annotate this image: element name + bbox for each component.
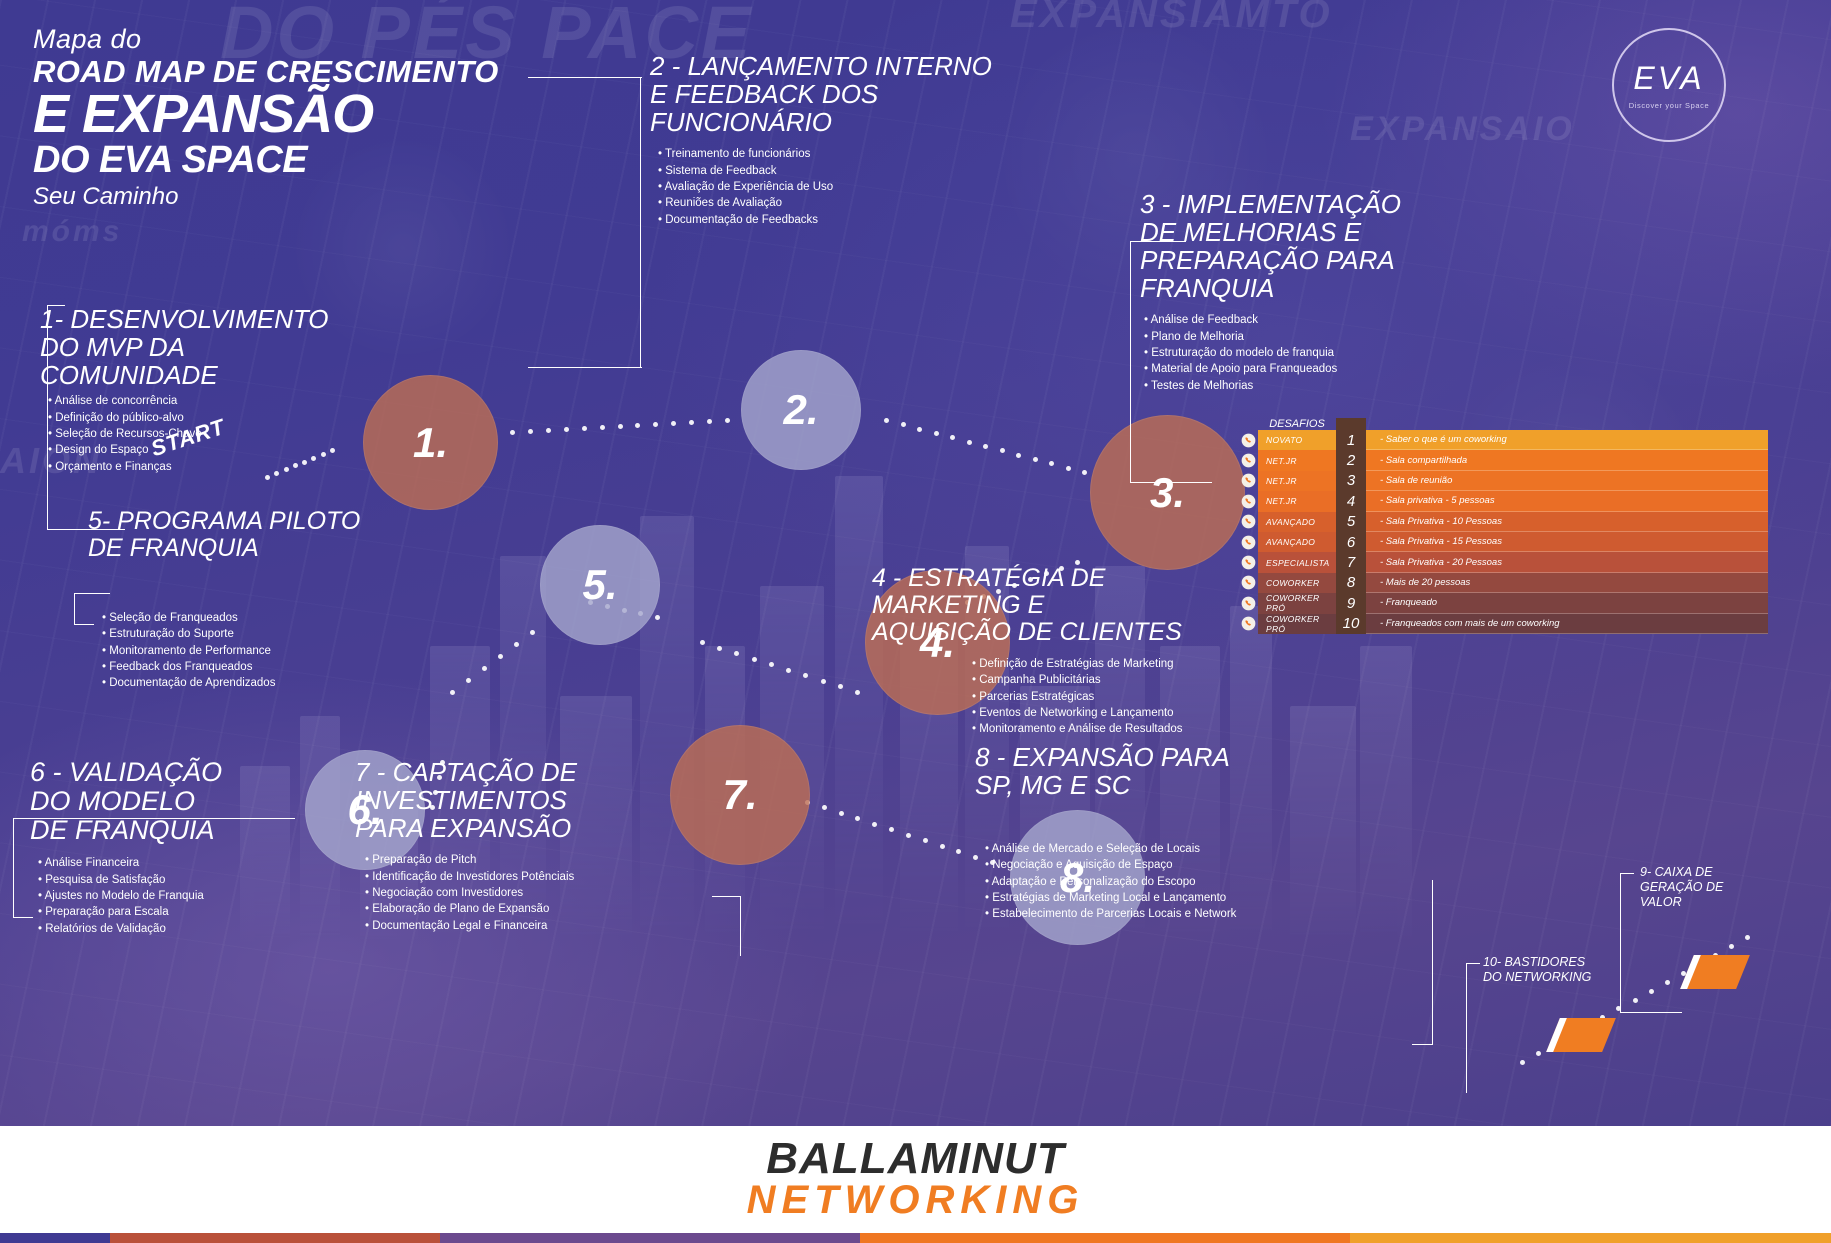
step-title-7: 7 - CAPTAÇÃO DE INVESTIMENTOS PARA EXPAN… xyxy=(355,758,705,842)
title-line-4: DO EVA SPACE xyxy=(33,141,499,179)
desafios-number: 10 xyxy=(1336,614,1366,634)
marker-label-9: 9- CAIXA DE GERAÇÃO DE VALOR xyxy=(1640,865,1723,909)
step-bullet-item: Avaliação de Experiência de Uso xyxy=(658,179,1070,195)
eva-logo-tagline: Discover your Space xyxy=(1629,101,1710,110)
step-title-5: 5- PROGRAMA PILOTO DE FRANQUIA xyxy=(88,508,468,562)
step-bullet-item: Estruturação do modelo de franquia xyxy=(1144,345,1500,361)
desafios-number: 9 xyxy=(1336,593,1366,613)
title-line-3: E EXPANSÃO xyxy=(33,88,499,140)
stripe-segment xyxy=(110,1233,440,1243)
roadmap-node-5[interactable]: 5. xyxy=(540,525,660,645)
desafios-header-row: DESAFIOS xyxy=(1238,418,1768,430)
value-flag-icon xyxy=(1680,955,1750,989)
desafios-number: 5 xyxy=(1336,512,1366,532)
desafios-description: - Sala privativa - 5 pessoas xyxy=(1366,491,1768,511)
bracket-step-7-head xyxy=(712,896,740,897)
stripe-segment xyxy=(0,1233,110,1243)
step-title-4: 4 - ESTRATÉGIA DE MARKETING E AQUISIÇÃO … xyxy=(872,565,1272,646)
step-bullet-item: Campanha Publicitárias xyxy=(972,672,1272,688)
desafios-row[interactable]: NET.JR2 - Sala compartilhada xyxy=(1238,450,1768,470)
desafios-row[interactable]: COWORKER8- Mais de 20 pessoas xyxy=(1238,573,1768,593)
step-bullet-item: Definição de Estratégias de Marketing xyxy=(972,656,1272,672)
step-block-7: 7 - CAPTAÇÃO DE INVESTIMENTOS PARA EXPAN… xyxy=(355,758,705,934)
bracket-step-2-head xyxy=(528,77,642,78)
desafios-number: 3 xyxy=(1336,471,1366,491)
eva-logo: EVA Discover your Space xyxy=(1612,28,1726,142)
step-bullets-6: Análise FinanceiraPesquisa de Satisfação… xyxy=(38,855,360,937)
step-bullet-item: Documentação de Aprendizados xyxy=(102,675,468,691)
step-bullets-2: Treinamento de funcionáriosSistema de Fe… xyxy=(658,146,1070,228)
desafios-description: - Franqueados com mais de um coworking xyxy=(1366,614,1768,634)
roadmap-node-3[interactable]: 3. xyxy=(1090,415,1245,570)
title-line-2: ROAD MAP DE CRESCIMENTO xyxy=(33,55,499,88)
phone-icon xyxy=(1238,471,1258,491)
desafios-row[interactable]: ESPECIALISTA7- Sala Privativa - 20 Pesso… xyxy=(1238,552,1768,572)
step-bullets-4: Definição de Estratégias de MarketingCam… xyxy=(972,656,1272,738)
brand-line-1: BALLAMINUT xyxy=(747,1134,1085,1184)
desafios-table: DESAFIOS NOVATO1- Saber o que é um cowor… xyxy=(1238,418,1768,634)
bracket-step-7 xyxy=(740,896,741,956)
step-bullet-item: Análise de Feedback xyxy=(1144,312,1500,328)
step-bullet-item: Reuniões de Avaliação xyxy=(658,195,1070,211)
ghost-word: móms xyxy=(22,215,122,249)
phone-icon xyxy=(1241,473,1256,488)
step-bullet-item: Análise de concorrência xyxy=(48,393,370,409)
desafios-level: NOVATO xyxy=(1258,430,1336,450)
step-title-3: 3 - IMPLEMENTAÇÃO DE MELHORIAS E PREPARA… xyxy=(1140,190,1500,302)
step-bullet-item: Monitoramento e Análise de Resultados xyxy=(972,721,1272,737)
desafios-description: - Franqueado xyxy=(1366,593,1768,613)
desafios-number: 1 xyxy=(1336,430,1366,450)
page-title: Mapa do ROAD MAP DE CRESCIMENTO E EXPANS… xyxy=(33,24,499,211)
step-bullet-item: Estratégias de Marketing Local e Lançame… xyxy=(985,890,1405,906)
bracket-step-8-foot xyxy=(1412,1044,1432,1045)
bracket-marker-9-head xyxy=(1620,873,1634,874)
ghost-word: EXPANSIAMTO xyxy=(1010,0,1333,37)
desafios-level: AVANÇADO xyxy=(1258,512,1336,532)
poster-root: DO PÉS PACEEXPANSIAMTOEXPANSAIOmómsAION … xyxy=(0,0,1831,1243)
step-bullet-item: Orçamento e Finanças xyxy=(48,459,370,475)
footer: BALLAMINUT NETWORKING xyxy=(0,1126,1831,1243)
stripe-segment xyxy=(1350,1233,1831,1243)
desafios-level: AVANÇADO xyxy=(1258,532,1336,552)
desafios-level: NET.JR xyxy=(1258,450,1336,470)
desafios-description: - Sala Privativa - 10 Pessoas xyxy=(1366,512,1768,532)
step-bullet-item: Sistema de Feedback xyxy=(658,163,1070,179)
roadmap-node-1[interactable]: 1. xyxy=(363,375,498,510)
step-bullet-item: Pesquisa de Satisfação xyxy=(38,872,360,888)
desafios-number: 8 xyxy=(1336,573,1366,593)
node-label: 1. xyxy=(413,419,448,467)
phone-icon xyxy=(1241,514,1256,529)
step-bullet-item: Ajustes no Modelo de Franquia xyxy=(38,888,360,904)
phone-icon xyxy=(1238,593,1258,613)
bracket-marker-10-head xyxy=(1466,963,1480,964)
desafios-row[interactable]: NET.JR3- Sala de reunião xyxy=(1238,471,1768,491)
bracket-step-3 xyxy=(1130,241,1131,483)
phone-icon xyxy=(1241,596,1256,611)
desafios-description: - Mais de 20 pessoas xyxy=(1366,573,1768,593)
step-bullet-item: Negociação e Aquisição de Espaço xyxy=(985,857,1405,873)
phone-icon xyxy=(1238,614,1258,634)
step-bullets-8: Análise de Mercado e Seleção de LocaisNe… xyxy=(985,841,1405,923)
poster-canvas: DO PÉS PACEEXPANSIAMTOEXPANSAIOmómsAION … xyxy=(0,0,1831,1126)
bracket-marker-9-foot xyxy=(1620,1012,1682,1013)
step-bullet-item: Documentação de Feedbacks xyxy=(658,212,1070,228)
phone-icon xyxy=(1241,535,1256,550)
phone-icon xyxy=(1238,573,1258,593)
desafios-level: COWORKER PRÓ xyxy=(1258,593,1336,613)
step-bullet-item: Análise Financeira xyxy=(38,855,360,871)
desafios-row[interactable]: NOVATO1- Saber o que é um coworking xyxy=(1238,430,1768,450)
step-bullet-item: Parcerias Estratégicas xyxy=(972,689,1272,705)
roadmap-node-2[interactable]: 2. xyxy=(741,350,861,470)
step-bullet-item: Negociação com Investidores xyxy=(365,885,705,901)
step-bullet-item: Identificação de Investidores Potênciais xyxy=(365,869,705,885)
desafios-row[interactable]: AVANÇADO6- Sala Privativa - 15 Pessoas xyxy=(1238,532,1768,552)
desafios-level: NET.JR xyxy=(1258,471,1336,491)
phone-icon xyxy=(1238,512,1258,532)
phone-icon xyxy=(1238,491,1258,511)
bracket-step-2 xyxy=(640,77,641,367)
step-block-5: 5- PROGRAMA PILOTO DE FRANQUIASeleção de… xyxy=(88,508,468,692)
desafios-row[interactable]: COWORKER PRÓ10- Franqueados com mais de … xyxy=(1238,614,1768,634)
stripe-segment xyxy=(440,1233,860,1243)
step-bullets-7: Preparação de PitchIdentificação de Inve… xyxy=(365,852,705,934)
desafios-description: - Sala Privativa - 15 Pessoas xyxy=(1366,532,1768,552)
title-line-5: Seu Caminho xyxy=(33,183,499,211)
step-bullet-item: Plano de Melhoria xyxy=(1144,329,1500,345)
step-bullet-item: Eventos de Networking e Lançamento xyxy=(972,705,1272,721)
step-bullet-item: Material de Apoio para Franqueados xyxy=(1144,361,1500,377)
brand-line-2: NETWORKING xyxy=(747,1178,1085,1223)
step-bullet-item: Documentação Legal e Financeira xyxy=(365,918,705,934)
step-bullets-5: Seleção de FranqueadosEstruturação do Su… xyxy=(102,610,468,692)
step-bullet-item: Adaptação e Personalização do Escopo xyxy=(985,874,1405,890)
step-block-6: 6 - VALIDAÇÃO DO MODELO DE FRANQUIAAnáli… xyxy=(30,758,360,937)
step-bullet-item: Estabelecimento de Parcerias Locais e Ne… xyxy=(985,906,1405,922)
ballaminut-logo: BALLAMINUT NETWORKING xyxy=(747,1134,1085,1223)
step-bullet-item: Preparação para Escala xyxy=(38,904,360,920)
step-bullet-item: Preparação de Pitch xyxy=(365,852,705,868)
node-label: 7. xyxy=(722,771,757,819)
desafios-row[interactable]: AVANÇADO5- Sala Privativa - 10 Pessoas xyxy=(1238,512,1768,532)
step-bullet-item: Treinamento de funcionários xyxy=(658,146,1070,162)
step-bullet-item: Monitoramento de Performance xyxy=(102,643,468,659)
desafios-number: 2 xyxy=(1336,450,1366,470)
desafios-header-label: DESAFIOS xyxy=(1258,418,1336,430)
phone-icon xyxy=(1241,616,1256,631)
step-bullet-item: Feedback dos Franqueados xyxy=(102,659,468,675)
node-label: 5. xyxy=(582,561,617,609)
step-bullet-item: Estruturação do Suporte xyxy=(102,626,468,642)
step-block-4: 4 - ESTRATÉGIA DE MARKETING E AQUISIÇÃO … xyxy=(872,565,1272,738)
bracket-step-5 xyxy=(74,593,75,625)
desafios-level: NET.JR xyxy=(1258,491,1336,511)
desafios-row[interactable]: COWORKER PRÓ9- Franqueado xyxy=(1238,593,1768,613)
footer-color-stripe xyxy=(0,1233,1831,1243)
desafios-description: - Sala de reunião xyxy=(1366,471,1768,491)
marker-label-10: 10- BASTIDORES DO NETWORKING xyxy=(1483,955,1591,985)
bracket-marker-9 xyxy=(1620,873,1621,1013)
step-title-2: 2 - LANÇAMENTO INTERNO E FEEDBACK DOS FU… xyxy=(650,52,1070,136)
phone-icon xyxy=(1241,433,1256,448)
phone-icon xyxy=(1241,575,1256,590)
phone-icon xyxy=(1241,453,1256,468)
step-bullet-item: Análise de Mercado e Seleção de Locais xyxy=(985,841,1405,857)
networking-flag-icon xyxy=(1546,1018,1616,1052)
desafios-level: COWORKER xyxy=(1258,573,1336,593)
bracket-marker-10 xyxy=(1466,963,1467,1093)
node-label: 3. xyxy=(1150,469,1185,517)
desafios-description: - Sala Privativa - 20 Pessoas xyxy=(1366,552,1768,572)
ghost-word: EXPANSAIO xyxy=(1350,110,1575,149)
desafios-level: ESPECIALISTA xyxy=(1258,552,1336,572)
stripe-segment xyxy=(860,1233,1350,1243)
bracket-step-8 xyxy=(1432,880,1433,1045)
step-bullet-item: Elaboração de Plano de Expansão xyxy=(365,901,705,917)
eva-logo-mark: EVA xyxy=(1633,60,1704,97)
step-block-1: 1- DESENVOLVIMENTO DO MVP DA COMUNIDADEA… xyxy=(40,305,370,475)
step-title-6: 6 - VALIDAÇÃO DO MODELO DE FRANQUIA xyxy=(30,758,360,845)
desafios-level: COWORKER PRÓ xyxy=(1258,614,1336,634)
phone-icon xyxy=(1238,430,1258,450)
desafios-row[interactable]: NET.JR4- Sala privativa - 5 pessoas xyxy=(1238,491,1768,511)
phone-icon xyxy=(1241,494,1256,509)
step-bullet-item: Relatórios de Validação xyxy=(38,921,360,937)
step-title-8: 8 - EXPANSÃO PARA SP, MG E SC xyxy=(975,743,1405,799)
step-title-1: 1- DESENVOLVIMENTO DO MVP DA COMUNIDADE xyxy=(40,305,370,389)
desafios-number: 4 xyxy=(1336,491,1366,511)
phone-icon xyxy=(1238,450,1258,470)
step-bullets-3: Análise de FeedbackPlano de MelhoriaEstr… xyxy=(1144,312,1500,394)
title-line-1: Mapa do xyxy=(33,24,499,55)
desafios-number: 7 xyxy=(1336,552,1366,572)
phone-icon xyxy=(1238,532,1258,552)
step-bullet-item: Testes de Melhorias xyxy=(1144,378,1500,394)
phone-icon xyxy=(1241,555,1256,570)
desafios-description: - Saber o que é um coworking xyxy=(1366,430,1768,450)
step-block-8: 8 - EXPANSÃO PARA SP, MG E SCAnálise de … xyxy=(975,743,1405,923)
bracket-step-6 xyxy=(13,818,14,918)
bracket-step-2-foot xyxy=(528,367,642,368)
step-block-3: 3 - IMPLEMENTAÇÃO DE MELHORIAS E PREPARA… xyxy=(1140,190,1500,394)
desafios-number: 6 xyxy=(1336,532,1366,552)
step-bullet-item: Seleção de Franqueados xyxy=(102,610,468,626)
step-block-2: 2 - LANÇAMENTO INTERNO E FEEDBACK DOS FU… xyxy=(650,52,1070,228)
desafios-description: - Sala compartilhada xyxy=(1366,450,1768,470)
phone-icon xyxy=(1238,552,1258,572)
node-label: 2. xyxy=(783,386,818,434)
bracket-step-3-foot xyxy=(1130,482,1212,483)
